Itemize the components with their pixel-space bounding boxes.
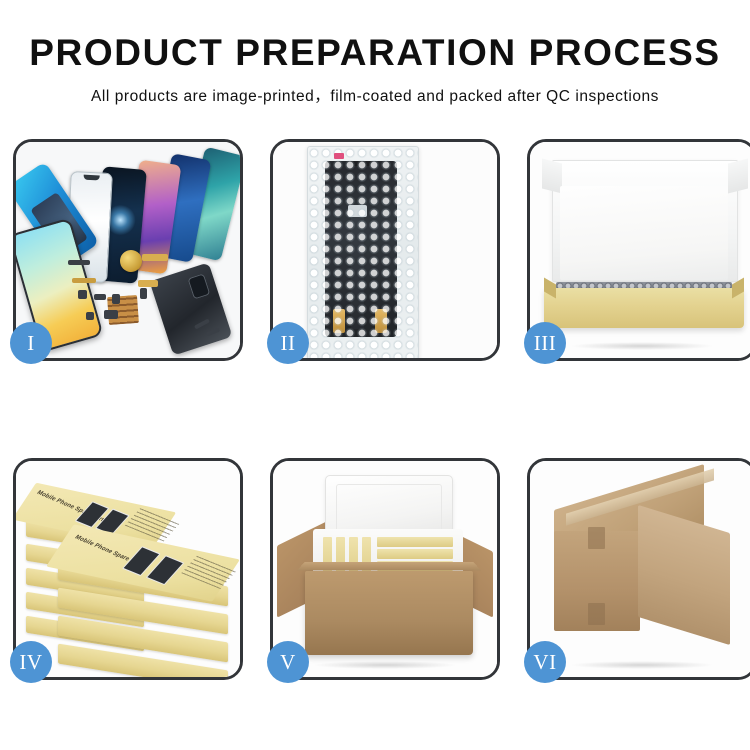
carton-body-icon: [305, 571, 473, 655]
page-header: PRODUCT PREPARATION PROCESS All products…: [0, 0, 750, 106]
process-panel-grid: I II: [13, 139, 737, 680]
process-step-panel-5[interactable]: V: [270, 458, 500, 680]
page-title: PRODUCT PREPARATION PROCESS: [0, 34, 750, 73]
yellow-box-tray-icon: [544, 288, 744, 328]
open-tray-box-photo: [530, 142, 750, 358]
step-badge-5: V: [267, 641, 309, 683]
sealed-carton-photo: [530, 461, 750, 677]
process-step-panel-2[interactable]: II: [270, 139, 500, 361]
flex-cable-icon: [72, 278, 96, 283]
step-badge-6: VI: [524, 641, 566, 683]
step-badge-3: III: [524, 322, 566, 364]
spare-part-icon: [140, 288, 147, 299]
bubble-wrapped-screen-photo: [273, 142, 497, 358]
process-step-panel-4[interactable]: Mobile Phone Spare Parts Mobile Phone Sp…: [13, 458, 243, 680]
process-step-panel-3[interactable]: III: [527, 139, 750, 361]
spare-part-icon: [104, 310, 118, 319]
carton-rim-icon: [297, 562, 481, 571]
foam-insert-icon: [560, 186, 728, 280]
bubble-wrap-bag-icon: [307, 146, 419, 358]
carton-with-foam-box-photo: [273, 461, 497, 677]
step-badge-2: II: [267, 322, 309, 364]
spare-part-icon: [86, 312, 94, 320]
speaker-coil-part-icon: [120, 250, 142, 272]
phone-parts-photo: [16, 142, 240, 358]
process-step-panel-6[interactable]: VI: [527, 458, 750, 680]
spare-part-icon: [94, 294, 106, 300]
stacked-retail-boxes-photo: Mobile Phone Spare Parts Mobile Phone Sp…: [16, 461, 240, 677]
flex-cable-icon: [142, 254, 168, 261]
page-subtitle: All products are image-printed，film-coat…: [0, 84, 750, 106]
step-badge-4: IV: [10, 641, 52, 683]
lcd-screen-icon: [325, 161, 397, 337]
pink-protective-tab-icon: [334, 153, 344, 159]
process-step-panel-1[interactable]: I: [13, 139, 243, 361]
carton-front-face-icon: [554, 531, 640, 631]
step-badge-1: I: [10, 322, 52, 364]
spare-part-icon: [68, 260, 90, 265]
spare-part-icon: [78, 290, 87, 299]
spare-part-icon: [112, 294, 120, 304]
flex-cable-icon: [138, 280, 158, 287]
